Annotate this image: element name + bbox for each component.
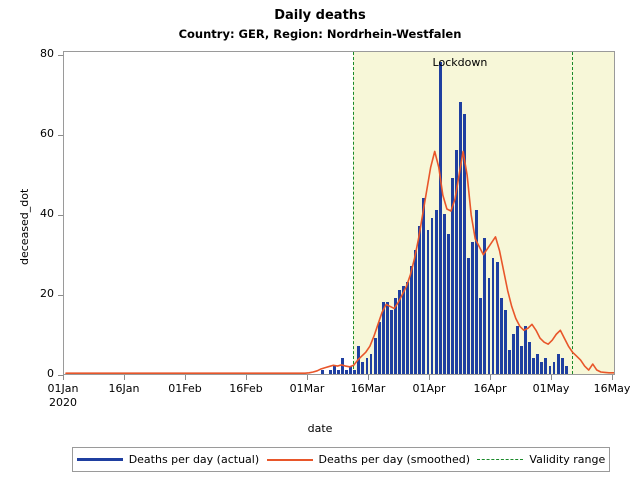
legend-item: Deaths per day (actual)	[77, 453, 259, 466]
chart-title: Daily deaths	[0, 8, 640, 23]
legend-swatch-solid	[77, 458, 123, 461]
y-tick-label: 80	[14, 47, 54, 60]
x-tick-mark	[429, 375, 430, 380]
x-tick-label: 16Apr	[473, 382, 506, 395]
legend-item: Validity range	[477, 453, 605, 466]
legend-item: Deaths per day (smoothed)	[267, 453, 471, 466]
x-tick-label: 16Feb	[229, 382, 262, 395]
x-axis-label: date	[0, 422, 640, 435]
legend-label: Deaths per day (smoothed)	[319, 453, 471, 466]
legend-label: Deaths per day (actual)	[129, 453, 259, 466]
x-tick-label: 01Jan	[48, 382, 79, 395]
y-tick-label: 20	[14, 287, 54, 300]
y-tick-label: 40	[14, 207, 54, 220]
chart-root: Daily deaths Country: GER, Region: Nordr…	[0, 0, 640, 480]
x-tick-mark	[612, 375, 613, 380]
x-tick-mark	[490, 375, 491, 380]
x-tick-label: 16May	[594, 382, 631, 395]
plot-area: Lockdown	[63, 51, 615, 375]
legend-label: Validity range	[529, 453, 605, 466]
x-tick-label: 16Jan	[109, 382, 140, 395]
x-tick-label: 01Mar	[290, 382, 325, 395]
y-tick-label: 0	[14, 367, 54, 380]
lockdown-annotation: Lockdown	[433, 56, 488, 69]
x-tick-label: 01Feb	[168, 382, 201, 395]
x-tick-label: 16Mar	[351, 382, 386, 395]
y-axis-label: deceased_dot	[18, 189, 31, 265]
y-tick-label: 60	[14, 127, 54, 140]
x-tick-label: 01May	[533, 382, 570, 395]
line-series-smoothed	[64, 52, 614, 374]
x-tick-mark	[368, 375, 369, 380]
x-tick-mark	[185, 375, 186, 380]
chart-subtitle: Country: GER, Region: Nordrhein-Westfale…	[0, 27, 640, 41]
x-tick-mark	[246, 375, 247, 380]
x-tick-mark	[63, 375, 64, 380]
x-tick-sublabel: 2020	[49, 396, 77, 409]
legend-swatch-solid	[267, 459, 313, 461]
x-tick-mark	[124, 375, 125, 380]
chart-legend: Deaths per day (actual)Deaths per day (s…	[72, 447, 610, 472]
x-tick-mark	[307, 375, 308, 380]
x-tick-label: 01Apr	[412, 382, 445, 395]
legend-swatch-dashed	[477, 459, 523, 460]
x-tick-mark	[551, 375, 552, 380]
